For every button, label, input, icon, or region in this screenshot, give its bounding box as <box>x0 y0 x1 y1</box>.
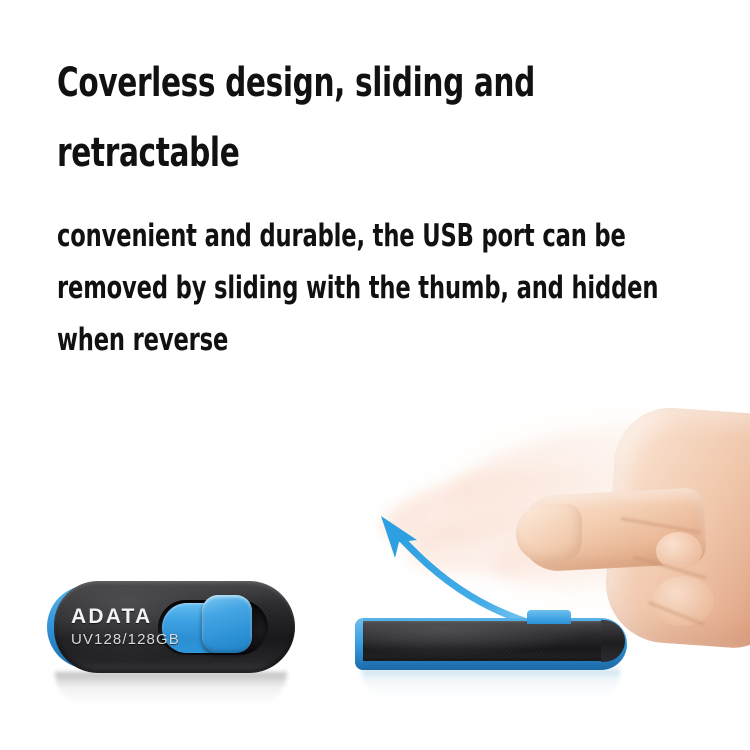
body-line-2: removed by sliding with the thumb, and h… <box>57 262 743 314</box>
body-line-1: convenient and durable, the USB port can… <box>57 210 743 262</box>
usb-side-black-top <box>360 621 622 661</box>
headline-line-1: Coverless design, sliding and <box>57 48 723 118</box>
body-copy: convenient and durable, the USB port can… <box>57 210 717 366</box>
usb-front-reflection <box>55 672 287 706</box>
marketing-copy-block: Coverless design, sliding and retractabl… <box>57 48 717 366</box>
headline-line-2: retractable <box>57 118 723 188</box>
usb-side-slider-tab <box>527 610 571 624</box>
brand-label: ADATA <box>71 605 152 629</box>
body-line-3: when reverse <box>57 314 743 366</box>
product-feature-banner: Coverless design, sliding and retractabl… <box>0 0 750 750</box>
usb-side-left-edge <box>355 618 363 670</box>
product-photo: ADATA UV128/128GB <box>0 380 750 750</box>
slider-knob <box>202 595 252 653</box>
model-label: UV128/128GB <box>71 631 180 648</box>
usb-side-reflection <box>362 669 620 697</box>
shell-texture-side <box>360 621 622 661</box>
usb-drive-front-view: ADATA UV128/128GB <box>47 581 295 673</box>
knuckle-lower <box>652 576 714 626</box>
usb-drive-side-view <box>355 618 627 670</box>
